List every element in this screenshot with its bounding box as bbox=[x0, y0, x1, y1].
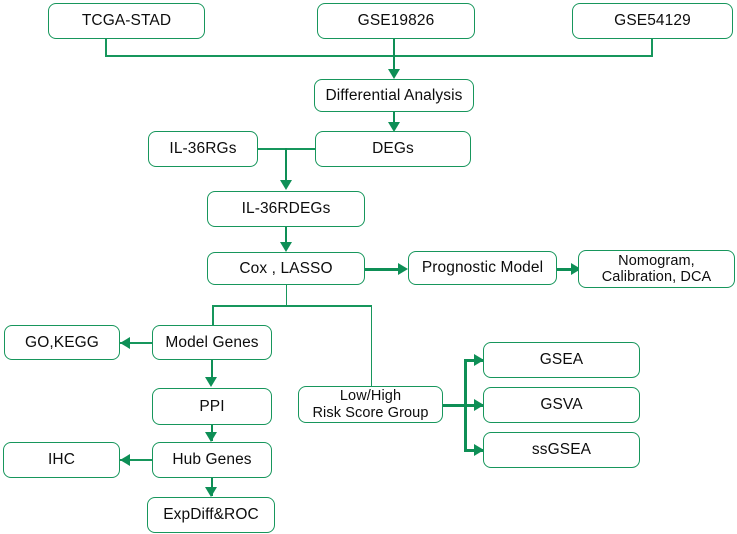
edge-datasets-bus bbox=[105, 55, 653, 57]
node-ihc[interactable]: IHC bbox=[3, 442, 120, 478]
edge-bus-to-risk-group bbox=[371, 305, 373, 388]
node-gsea[interactable]: GSEA bbox=[483, 342, 640, 378]
node-tcga-stad[interactable]: TCGA-STAD bbox=[48, 3, 205, 39]
arrowhead-to-ppi bbox=[205, 377, 217, 387]
flowchart-canvas: TCGA-STAD GSE19826 GSE54129 Differential… bbox=[0, 0, 737, 534]
arrowhead-to-ihc bbox=[120, 454, 130, 466]
node-il36rdegs[interactable]: IL-36RDEGs bbox=[207, 191, 365, 227]
node-go-kegg[interactable]: GO,KEGG bbox=[4, 325, 120, 360]
node-gsva[interactable]: GSVA bbox=[483, 387, 640, 423]
node-ssgsea[interactable]: ssGSEA bbox=[483, 432, 640, 468]
arrowhead-to-hub-genes bbox=[205, 432, 217, 442]
node-expdiff-roc[interactable]: ExpDiff&ROC bbox=[147, 497, 275, 533]
node-model-genes[interactable]: Model Genes bbox=[152, 325, 272, 360]
arrowhead-to-cox-lasso bbox=[280, 242, 292, 252]
node-il36rgs[interactable]: IL-36RGs bbox=[148, 131, 258, 167]
node-nomogram-calibration-dca[interactable]: Nomogram, Calibration, DCA bbox=[578, 250, 735, 288]
node-gse19826[interactable]: GSE19826 bbox=[317, 3, 475, 39]
node-hub-genes[interactable]: Hub Genes bbox=[152, 442, 272, 478]
node-cox-lasso[interactable]: Cox , LASSO bbox=[207, 252, 365, 285]
node-ppi[interactable]: PPI bbox=[152, 388, 272, 425]
edge-tcga-to-bus bbox=[105, 38, 107, 56]
arrowhead-to-il36rdegs bbox=[280, 180, 292, 190]
edge-cox-down-stem bbox=[286, 285, 288, 306]
arrowhead-to-prognostic-model bbox=[398, 263, 408, 275]
node-differential-analysis[interactable]: Differential Analysis bbox=[314, 79, 474, 112]
arrowhead-to-go-kegg bbox=[120, 337, 130, 349]
edge-cox-to-prognostic bbox=[365, 268, 401, 271]
edge-gse19826-to-differential bbox=[393, 38, 395, 72]
edge-junction-to-il36rdegs bbox=[285, 148, 287, 182]
node-risk-score-group[interactable]: Low/High Risk Score Group bbox=[298, 386, 443, 423]
node-gse54129[interactable]: GSE54129 bbox=[572, 3, 733, 39]
edge-gse54129-to-bus bbox=[651, 38, 653, 56]
arrowhead-to-differential-analysis bbox=[388, 69, 400, 79]
arrowhead-to-expdiff-roc bbox=[205, 487, 217, 497]
edge-bus-to-model-genes bbox=[212, 305, 214, 326]
node-degs[interactable]: DEGs bbox=[315, 131, 471, 167]
edge-cox-split-bus bbox=[212, 305, 372, 307]
node-prognostic-model[interactable]: Prognostic Model bbox=[408, 251, 557, 285]
